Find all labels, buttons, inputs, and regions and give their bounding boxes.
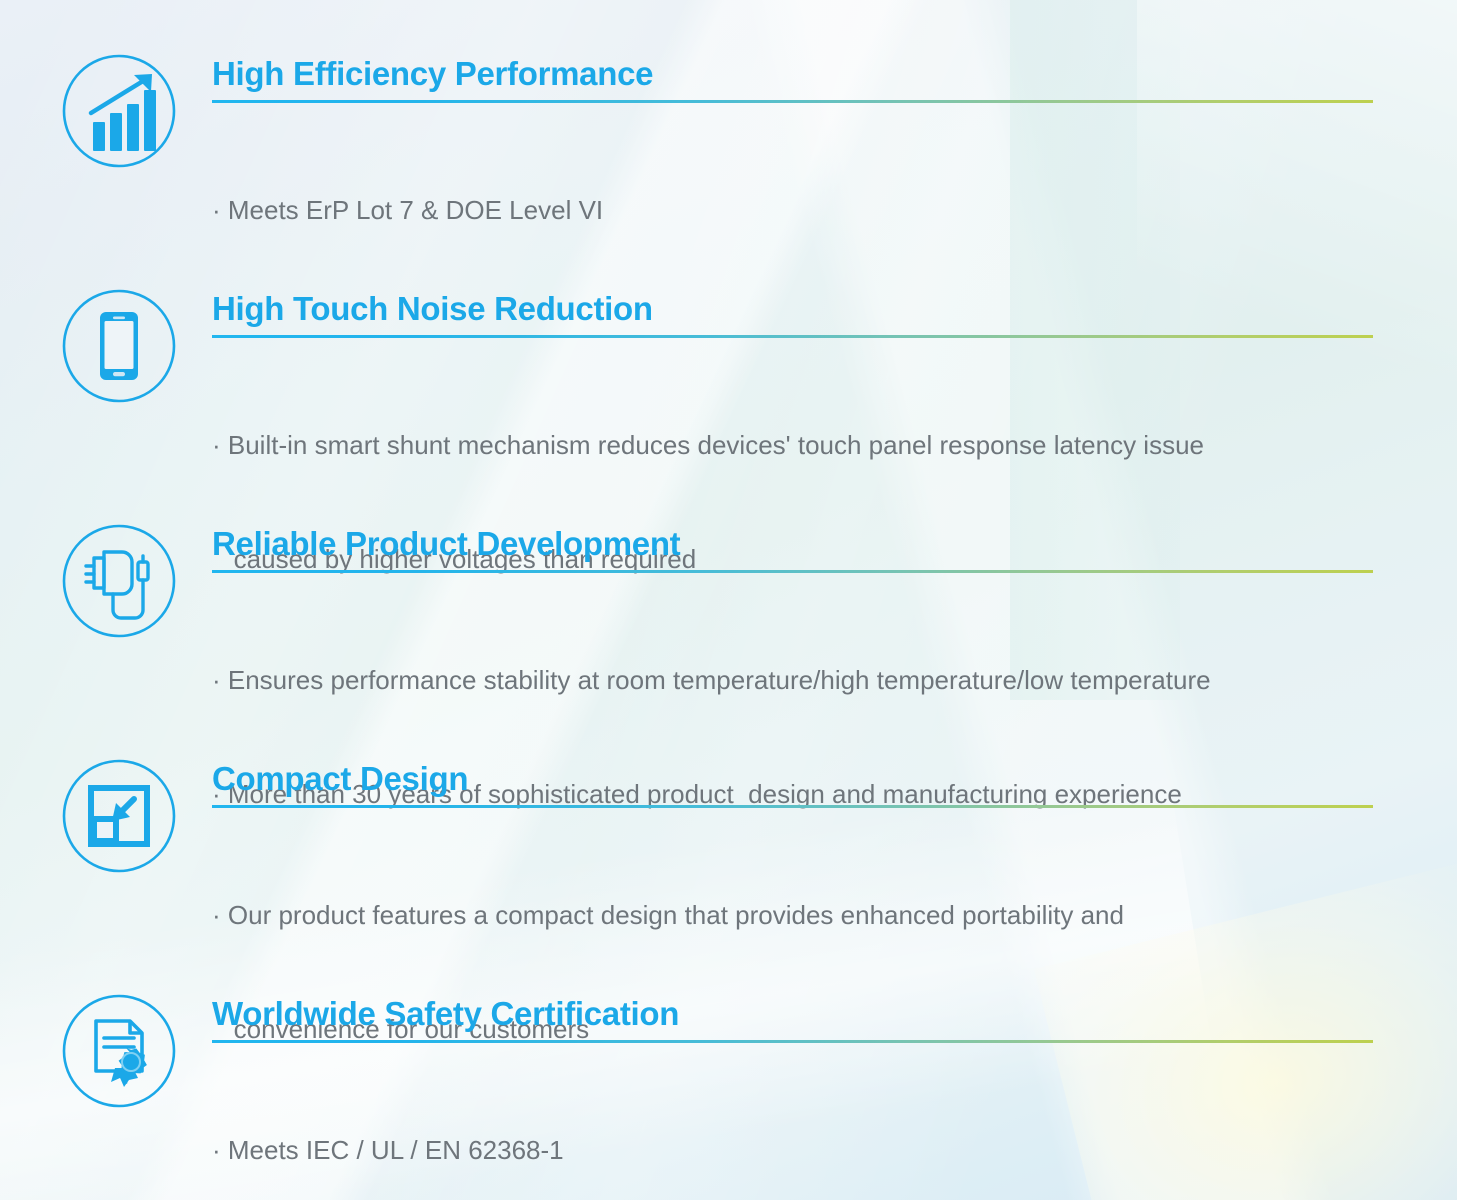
feature-description: · Meets IEC / UL / EN 62368-1: [212, 1055, 1374, 1200]
smartphone-icon: [60, 287, 178, 405]
feature-divider: [212, 1040, 1373, 1043]
feature-description-line: · Built-in smart shunt mechanism reduces…: [212, 426, 1374, 464]
feature-icon: [60, 757, 178, 875]
feature-description-line: · Our product features a compact design …: [212, 896, 1374, 934]
feature-description-line: · Meets ErP Lot 7 & DOE Level VI: [212, 191, 1374, 229]
feature-body: Worldwide Safety Certification · Meets I…: [212, 992, 1374, 1200]
feature-description-line: · Ensures performance stability at room …: [212, 661, 1374, 699]
feature-divider: [212, 570, 1373, 573]
growth-chart-icon: [60, 52, 178, 170]
compact-resize-icon: [60, 757, 178, 875]
feature-title: High Efficiency Performance: [212, 52, 1374, 96]
certificate-seal-icon: [60, 992, 178, 1110]
feature-icon: [60, 522, 178, 640]
feature-divider: [212, 100, 1373, 103]
feature-description-line: · Meets IEC / UL / EN 62368-1: [212, 1131, 1374, 1169]
feature-title: High Touch Noise Reduction: [212, 287, 1374, 331]
feature-title: Compact Design: [212, 757, 1374, 801]
feature-icon: [60, 52, 178, 170]
feature-icon: [60, 992, 178, 1110]
feature-title: Reliable Product Development: [212, 522, 1374, 566]
feature-description: · Meets ErP Lot 7 & DOE Level VI: [212, 115, 1374, 305]
feature-icon: [60, 287, 178, 405]
feature-title: Worldwide Safety Certification: [212, 992, 1374, 1036]
power-adapter-icon: [60, 522, 178, 640]
feature-list-page: High Efficiency Performance · Meets ErP …: [0, 0, 1457, 1200]
feature-divider: [212, 335, 1373, 338]
feature-divider: [212, 805, 1373, 808]
feature-body: High Efficiency Performance · Meets ErP …: [212, 52, 1374, 305]
